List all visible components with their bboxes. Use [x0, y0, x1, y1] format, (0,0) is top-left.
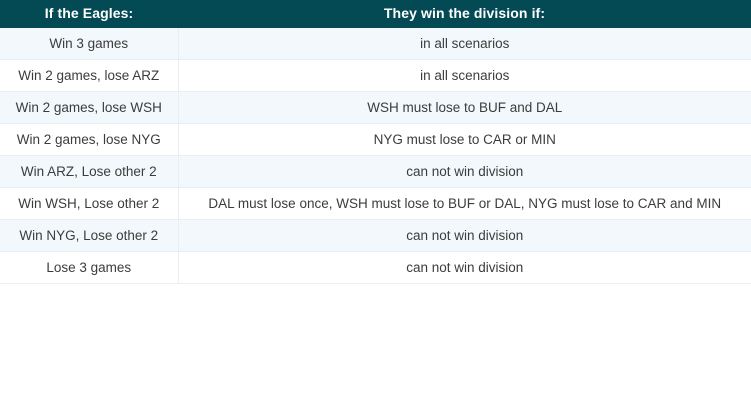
table-row: Win ARZ, Lose other 2 can not win divisi…	[0, 156, 751, 188]
cell-condition: Win 2 games, lose NYG	[0, 124, 178, 156]
table-row: Win 2 games, lose WSH WSH must lose to B…	[0, 92, 751, 124]
cell-condition: Win 2 games, lose ARZ	[0, 60, 178, 92]
cell-condition: Lose 3 games	[0, 252, 178, 284]
cell-outcome: NYG must lose to CAR or MIN	[178, 124, 751, 156]
cell-condition: Win NYG, Lose other 2	[0, 220, 178, 252]
column-header-condition: If the Eagles:	[0, 0, 178, 28]
table-row: Win 2 games, lose ARZ in all scenarios	[0, 60, 751, 92]
cell-outcome: WSH must lose to BUF and DAL	[178, 92, 751, 124]
header-row: If the Eagles: They win the division if:	[0, 0, 751, 28]
division-scenarios-table: If the Eagles: They win the division if:…	[0, 0, 751, 284]
cell-condition: Win WSH, Lose other 2	[0, 188, 178, 220]
cell-outcome: can not win division	[178, 252, 751, 284]
column-header-outcome: They win the division if:	[178, 0, 751, 28]
cell-outcome: in all scenarios	[178, 60, 751, 92]
table-row: Win NYG, Lose other 2 can not win divisi…	[0, 220, 751, 252]
table-body: Win 3 games in all scenarios Win 2 games…	[0, 28, 751, 284]
table-header: If the Eagles: They win the division if:	[0, 0, 751, 28]
cell-condition: Win 3 games	[0, 28, 178, 60]
cell-outcome: can not win division	[178, 156, 751, 188]
table-row: Win WSH, Lose other 2 DAL must lose once…	[0, 188, 751, 220]
cell-outcome: in all scenarios	[178, 28, 751, 60]
cell-outcome: can not win division	[178, 220, 751, 252]
cell-condition: Win 2 games, lose WSH	[0, 92, 178, 124]
cell-condition: Win ARZ, Lose other 2	[0, 156, 178, 188]
table-row: Lose 3 games can not win division	[0, 252, 751, 284]
cell-outcome: DAL must lose once, WSH must lose to BUF…	[178, 188, 751, 220]
table-row: Win 2 games, lose NYG NYG must lose to C…	[0, 124, 751, 156]
table-row: Win 3 games in all scenarios	[0, 28, 751, 60]
